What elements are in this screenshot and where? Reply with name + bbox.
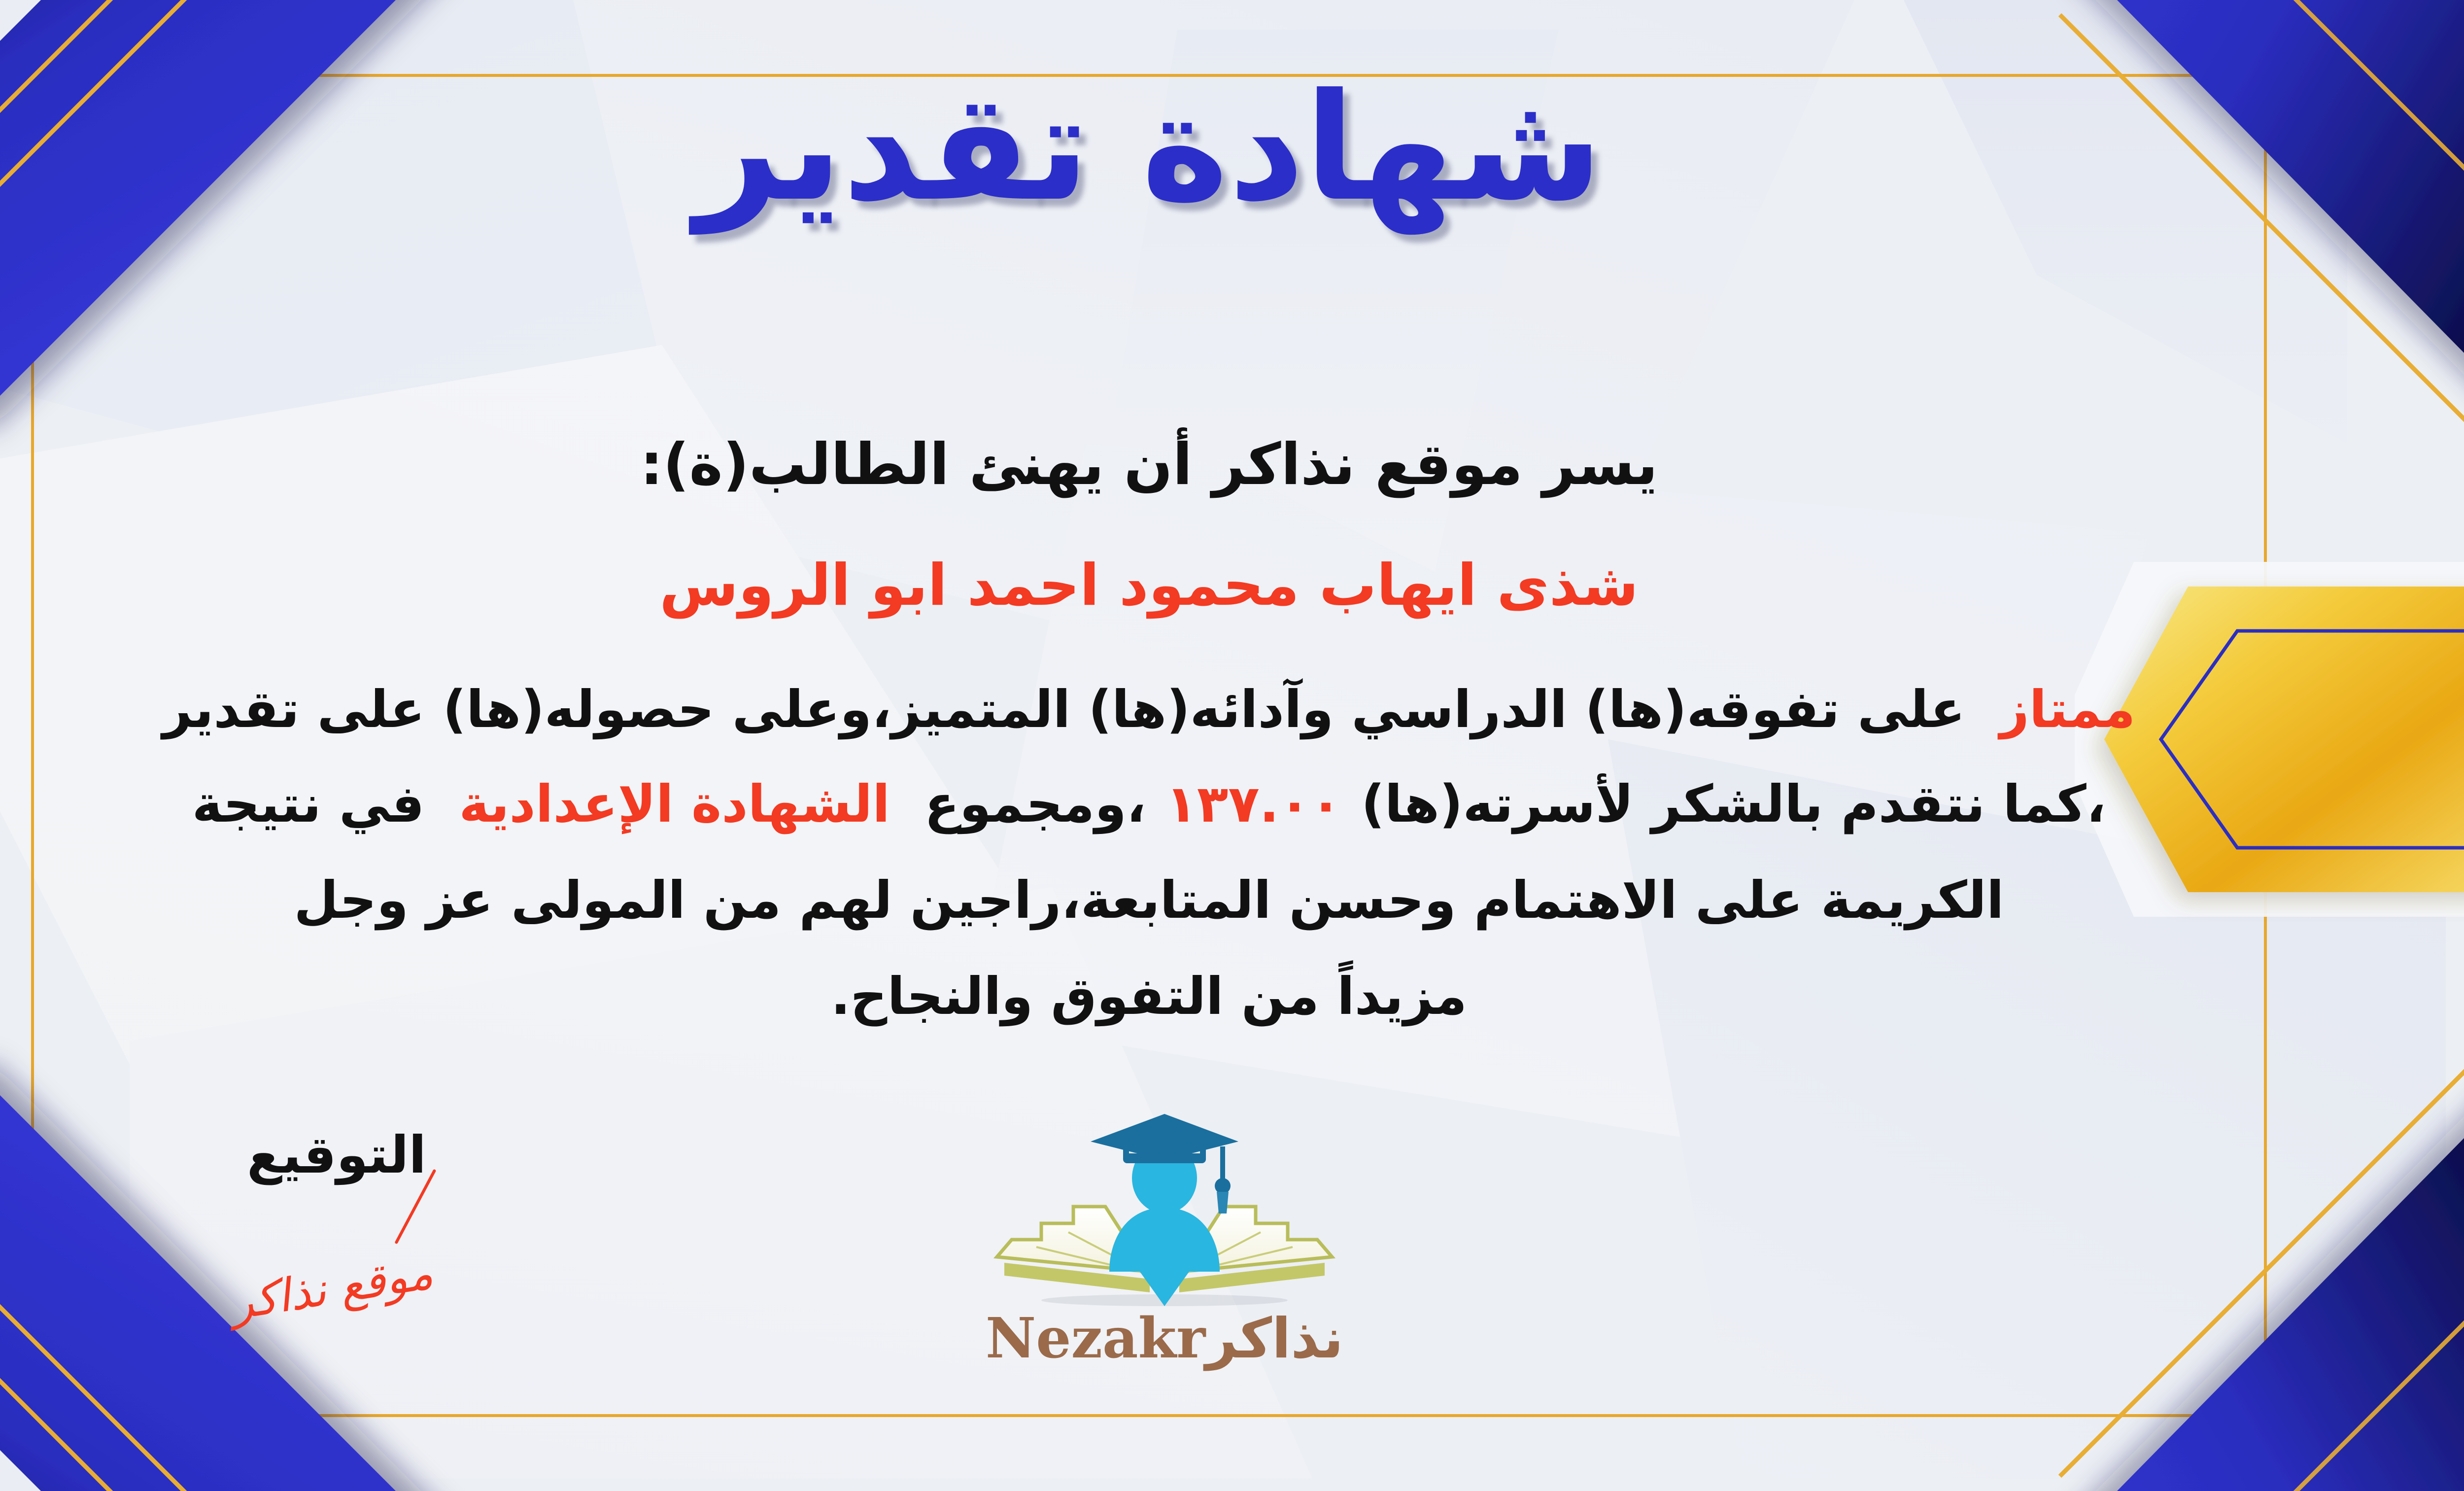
logo-wordmark: نذاكرNezakr: [977, 1306, 1352, 1371]
exam-name: الشهادة الإعدادية: [459, 774, 890, 834]
body-line-4: مزيداً من التفوق والنجاح.: [0, 966, 2464, 1026]
body-line-2-tail: ،كما نتقدم بالشكر لأسرته(ها): [1361, 774, 2106, 834]
intro-line: يسر موقع نذاكر أن يهنئ الطالب(ة):: [0, 431, 2464, 498]
body-line-1-text: على تفوقه(ها) الدراسي وآدائه(ها) المتميز…: [163, 679, 1965, 739]
certificate-content: شهادة تقدير يسر موقع نذاكر أن يهنئ الطال…: [0, 0, 2464, 1491]
student-name: شذى ايهاب محمود احمد ابو الروس: [0, 552, 2464, 619]
body-line-2-head: في نتيجة: [192, 774, 425, 834]
total-score: ١٣٧.٠٠: [1165, 774, 1341, 834]
site-logo: نذاكرNezakr: [977, 1109, 1352, 1415]
certificate-canvas: شهادة تقدير يسر موقع نذاكر أن يهنئ الطال…: [0, 0, 2464, 1491]
body-line-3: الكريمة على الاهتمام وحسن المتابعة،راجين…: [0, 870, 2464, 930]
body-line-1: ممتازعلى تفوقه(ها) الدراسي وآدائه(ها) ال…: [0, 679, 2464, 739]
logo-arabic: نذاكر: [1205, 1307, 1343, 1371]
grade-badge: ممتاز: [2000, 679, 2136, 739]
signature-label: التوقيع: [208, 1125, 465, 1185]
body-line-2-mid: ،ومجموع: [924, 774, 1146, 834]
logo-latin: Nezakr: [986, 1306, 1205, 1371]
page-title: شهادة تقدير: [0, 74, 2464, 222]
graduate-book-icon: [977, 1109, 1352, 1316]
signature-handwritten: موقع نذاكر: [176, 1238, 486, 1338]
body-line-2: ،كما نتقدم بالشكر لأسرته(ها)١٣٧.٠٠،ومجمو…: [0, 774, 2464, 834]
